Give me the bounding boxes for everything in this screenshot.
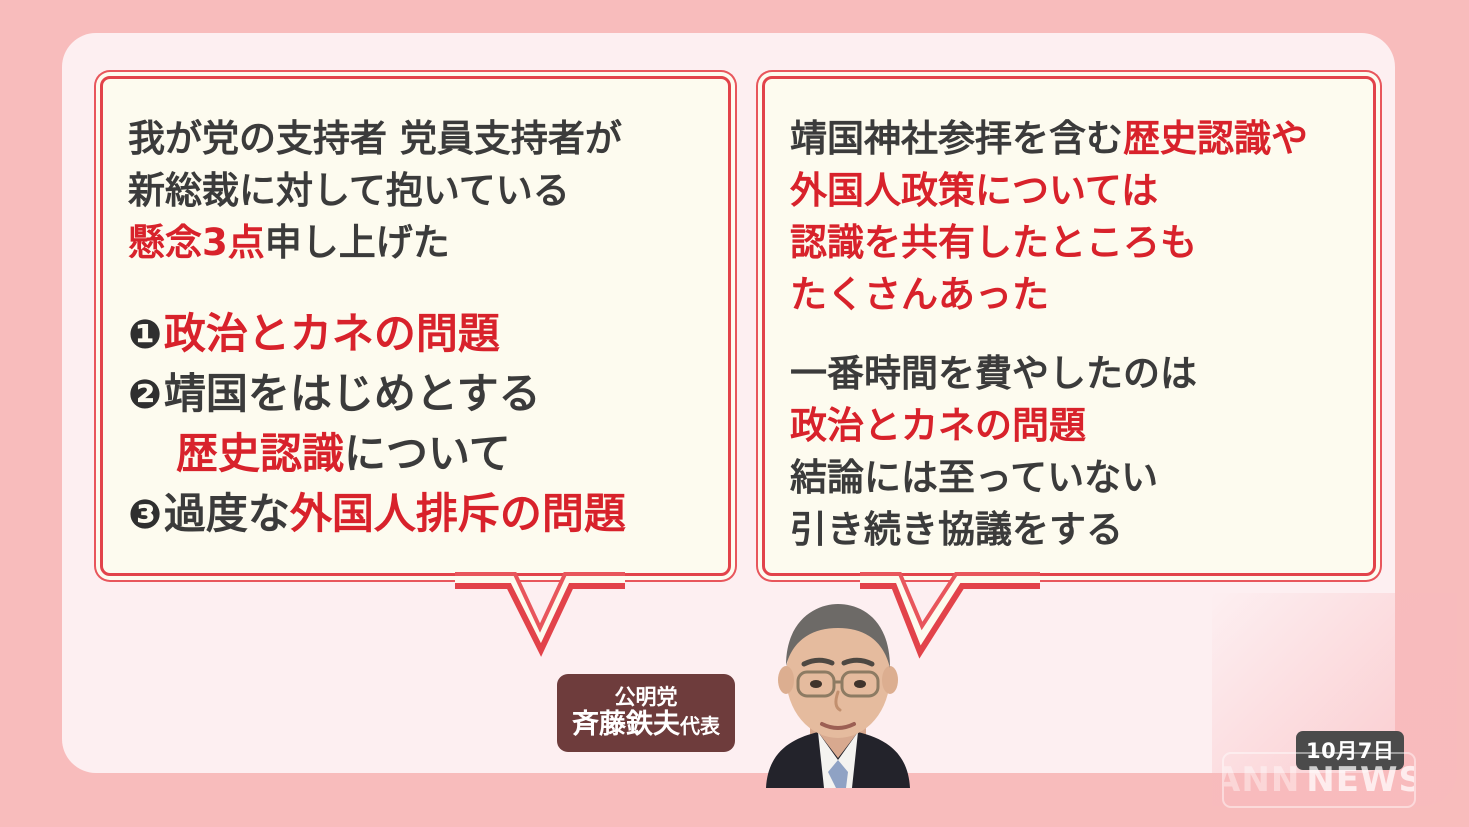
text-segment: 申し上げた <box>265 221 450 264</box>
text-segment: 一番時間を費やしたのは <box>790 352 1197 395</box>
text-segment: 外国人排斥の問題 <box>290 489 626 538</box>
text-line: たくさんあった <box>790 264 1308 316</box>
text-segment: 認識を共有したところも <box>790 221 1197 264</box>
text-segment: 我が党の支持者 党員支持者が <box>128 117 622 160</box>
text-segment: たくさんあった <box>790 273 1049 316</box>
text-segment: 歴史認識や <box>1123 117 1308 160</box>
text-line: 靖国神社参拝を含む歴史認識や <box>790 108 1308 160</box>
news-graphic: 我が党の支持者 党員支持者が新総裁に対して抱いている懸念3点申し上げた ❶政治と… <box>0 0 1469 827</box>
text-segment: 外国人政策については <box>790 169 1158 212</box>
text-line: 一番時間を費やしたのは <box>790 343 1197 395</box>
list-item-number: ❶ <box>128 312 162 358</box>
text-segment: 歴史認識 <box>176 429 344 478</box>
text-line: 引き続き協議をする <box>790 499 1197 551</box>
list-item-number: ❸ <box>128 492 162 538</box>
list-item-text: 歴史認識について <box>176 420 511 481</box>
right-bottom-text: 一番時間を費やしたのは政治とカネの問題結論には至っていない引き続き協議をする <box>790 343 1197 551</box>
ann-news-watermark: ANNNEWS <box>1222 752 1416 808</box>
text-segment: について <box>344 429 511 478</box>
text-segment: 引き続き協議をする <box>790 508 1123 551</box>
text-line: 認識を共有したところも <box>790 212 1308 264</box>
text-segment: 政治とカネの問題 <box>164 309 500 358</box>
speaker-nameplate: 公明党 斉藤鉄夫代表 <box>557 674 735 752</box>
nameplate-party: 公明党 <box>615 686 678 710</box>
speaker-portrait <box>748 592 928 827</box>
list-item-text: 靖国をはじめとする <box>164 360 541 421</box>
text-line: 懸念3点申し上げた <box>128 212 622 264</box>
list-item-text: 過度な外国人排斥の問題 <box>164 480 626 541</box>
text-line: 新総裁に対して抱いている <box>128 160 622 212</box>
left-intro-text: 我が党の支持者 党員支持者が新総裁に対して抱いている懸念3点申し上げた <box>128 108 622 264</box>
nameplate-person: 斉藤鉄夫代表 <box>572 710 720 740</box>
list-item-number: ❷ <box>128 372 162 418</box>
text-segment: 靖国神社参拝を含む <box>790 117 1123 160</box>
list-item: ❷靖国をはじめとする <box>128 360 626 420</box>
text-line: 我が党の支持者 党員支持者が <box>128 108 622 160</box>
list-item-text: 政治とカネの問題 <box>164 300 500 361</box>
text-line: 政治とカネの問題 <box>790 395 1197 447</box>
text-segment: 靖国をはじめとする <box>164 369 541 418</box>
text-line: 結論には至っていない <box>790 447 1197 499</box>
watermark-name: NEWS <box>1306 760 1416 800</box>
list-item: 歴史認識について <box>128 420 626 480</box>
text-segment: 過度な <box>164 489 290 538</box>
text-segment: 結論には至っていない <box>790 456 1158 499</box>
watermark-prefix: ANN <box>1222 760 1300 800</box>
list-item: ❸過度な外国人排斥の問題 <box>128 480 626 540</box>
text-segment: 政治とカネの問題 <box>790 404 1086 447</box>
text-segment: 懸念3点 <box>128 221 265 264</box>
right-top-text: 靖国神社参拝を含む歴史認識や外国人政策については認識を共有したところもたくさんあ… <box>790 108 1308 316</box>
text-line: 外国人政策については <box>790 160 1308 212</box>
nameplate-person-suffix: 代表 <box>680 714 720 738</box>
nameplate-person-name: 斉藤鉄夫 <box>572 709 680 740</box>
left-numbered-list: ❶政治とカネの問題❷靖国をはじめとする歴史認識について❸過度な外国人排斥の問題 <box>128 300 626 540</box>
list-item: ❶政治とカネの問題 <box>128 300 626 360</box>
text-segment: 新総裁に対して抱いている <box>128 169 570 212</box>
